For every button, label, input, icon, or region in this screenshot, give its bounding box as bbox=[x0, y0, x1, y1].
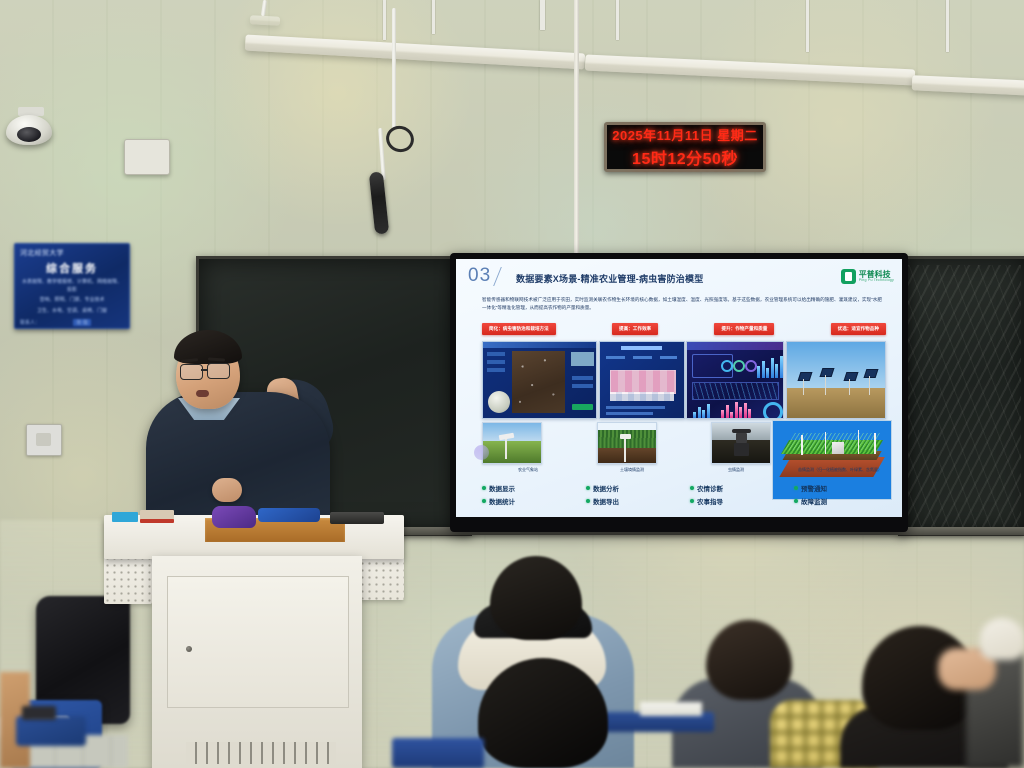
smart-display-screen[interactable]: 03 数据要素X场景-精准农业管理-病虫害防治模型 平普科技 Ping Pu T… bbox=[450, 253, 908, 532]
bullet-dot-icon bbox=[482, 486, 486, 490]
blackboard-right bbox=[898, 256, 1024, 536]
light-hanger-rod bbox=[946, 0, 949, 52]
purple-cloth-item bbox=[212, 506, 256, 528]
sensor-pole bbox=[874, 433, 876, 453]
presenter-glasses-lens bbox=[180, 364, 203, 380]
bullet-label: 农情诊断 bbox=[697, 483, 723, 493]
dashboard-field bbox=[487, 368, 505, 372]
blue-cloth-item bbox=[258, 508, 320, 522]
bullet-label: 数据统计 bbox=[489, 496, 515, 506]
photo-grass bbox=[483, 441, 541, 463]
feature-bullet-columns: 数据显示 数据统计 数据分析 数据导出 农情诊断 农事指导 预警通知 故障监测 bbox=[482, 479, 886, 506]
dashboard-titlebar bbox=[483, 342, 596, 348]
ceiling-light-fixture bbox=[250, 15, 280, 26]
dashboard-bar-chart bbox=[693, 404, 710, 418]
dome-security-camera bbox=[6, 115, 52, 145]
desk-device bbox=[330, 512, 384, 524]
dashboard-screenshot-row bbox=[482, 341, 886, 419]
mic-boom-arm bbox=[392, 8, 396, 130]
bullet-label: 数据分析 bbox=[593, 483, 619, 493]
bullet-item: 农情诊断 bbox=[690, 483, 782, 493]
dashboard-donut-chart bbox=[763, 402, 783, 419]
photo-pest-monitor bbox=[711, 422, 771, 464]
bullet-dot-icon bbox=[482, 499, 486, 503]
front-row-desk bbox=[16, 716, 86, 746]
dashboard-field bbox=[606, 406, 665, 409]
dashboard-analytics bbox=[686, 341, 784, 419]
bullet-item: 数据导出 bbox=[586, 496, 678, 506]
desk-book bbox=[112, 512, 138, 522]
dashboard-field bbox=[487, 352, 505, 356]
sign-contact-row: 联系人： 张 强 bbox=[20, 319, 124, 326]
sensor-pole bbox=[825, 375, 827, 395]
bullet-column: 预警通知 故障监测 bbox=[794, 479, 886, 506]
dashboard-table-rows bbox=[610, 392, 674, 401]
bullet-label: 预警通知 bbox=[801, 483, 827, 493]
bullet-item: 农事指导 bbox=[690, 496, 782, 506]
lectern-lock-icon[interactable] bbox=[186, 646, 192, 652]
light-hanger-rod bbox=[540, 0, 545, 30]
clock-date-line: 2025年11月11日 星期二 bbox=[612, 125, 758, 144]
dashboard-heading bbox=[621, 346, 661, 350]
logo-text: 平普科技 Ping Pu Technology bbox=[859, 271, 894, 283]
bullet-item: 故障监测 bbox=[794, 496, 886, 506]
phone-on-desk bbox=[22, 706, 56, 720]
student-desk bbox=[392, 738, 484, 768]
dashboard-soil-imagery bbox=[512, 351, 565, 413]
photo-caption-row: 农业气象站 土壤墒情监测 虫情监测 苗情监测（归一化植被指数、叶绿素、含氮量） bbox=[482, 467, 886, 472]
dashboard-line-chart bbox=[692, 382, 778, 400]
bullet-column: 农情诊断 农事指导 bbox=[690, 479, 782, 506]
photo-caption: 农业气象站 bbox=[482, 467, 574, 472]
bullet-dot-icon bbox=[586, 486, 590, 490]
photo-crop bbox=[598, 430, 656, 448]
pest-trap-body-icon bbox=[734, 443, 749, 456]
company-logo: 平普科技 Ping Pu Technology bbox=[841, 269, 894, 284]
slide-title-divider bbox=[493, 267, 515, 286]
dashboard-action-button bbox=[572, 404, 592, 410]
sensor-pole bbox=[803, 379, 805, 395]
audience-member-hat bbox=[980, 618, 1024, 660]
dashboard-titlebar bbox=[687, 342, 783, 350]
bullet-dot-icon bbox=[690, 486, 694, 490]
presenter-glasses-lens bbox=[207, 363, 230, 379]
dashboard-bar-chart bbox=[721, 402, 751, 418]
dashboard-heatmap-grid bbox=[610, 370, 676, 394]
benefit-pill: 优选：适宜作物品种 bbox=[831, 323, 886, 335]
bullet-label: 农事指导 bbox=[697, 496, 723, 506]
sign-contact-label: 联系人： bbox=[20, 319, 40, 326]
sensor-pole bbox=[869, 376, 871, 395]
desk-paper bbox=[640, 702, 702, 716]
sensor-pole bbox=[825, 432, 827, 454]
logo-mark-icon bbox=[841, 269, 856, 284]
photo-weather-station bbox=[482, 422, 542, 464]
benefit-pill: 简化：病虫害防治和栽培方法 bbox=[482, 323, 556, 335]
slide-number: 03 bbox=[468, 265, 491, 287]
presenter-glasses-bridge bbox=[201, 369, 208, 371]
dashboard-pest-detection bbox=[482, 341, 597, 419]
sign-body-line-2: 音响、照明、门禁、专业技术 bbox=[20, 297, 124, 305]
sign-heading: 综合服务 bbox=[20, 260, 124, 276]
dashboard-ring-chart bbox=[733, 360, 745, 372]
slide-paragraph: 智能传感器和物联网技术被广泛应用于农田，实时监测关联农作物生长环境的核心数据，如… bbox=[482, 296, 882, 313]
photo-caption: 虫情监测 bbox=[690, 467, 782, 472]
desk-book bbox=[140, 519, 174, 523]
bullet-item: 数据统计 bbox=[482, 496, 574, 506]
logo-name-en: Ping Pu Technology bbox=[859, 279, 894, 283]
bullet-item: 数据分析 bbox=[586, 483, 678, 493]
presenter-mouth bbox=[196, 390, 209, 397]
benefit-pill-row: 简化：病虫害防治和栽培方法 提高：工作效率 提升：作物产量和质量 优选：适宜作物… bbox=[482, 323, 886, 335]
wall-junction-box bbox=[124, 139, 170, 175]
field-control-box bbox=[832, 442, 844, 454]
sign-university-name: 河北经贸大学 bbox=[20, 248, 124, 258]
presenter-resting-hand bbox=[212, 478, 242, 502]
sensor-pole bbox=[624, 436, 626, 462]
dashboard-field bbox=[606, 412, 653, 415]
decorative-bubble bbox=[474, 445, 489, 460]
dashboard-field bbox=[606, 356, 624, 359]
bullet-dot-icon bbox=[794, 486, 798, 490]
dashboard-bar-chart bbox=[757, 356, 783, 378]
dashboard-gauge-icon bbox=[488, 391, 510, 413]
bullet-dot-icon bbox=[586, 499, 590, 503]
benefit-pill: 提高：工作效率 bbox=[612, 323, 658, 335]
dashboard-field bbox=[660, 356, 677, 359]
bullet-item: 预警通知 bbox=[794, 483, 886, 493]
photo-caption: 苗情监测（归一化植被指数、叶绿素、含氮量） bbox=[794, 467, 886, 472]
classroom-photo-scene: 河北经贸大学 综合服务 水表故障、教学楼报修、计算机、网络故障、投影 音响、照明… bbox=[0, 0, 1024, 768]
slide-title: 数据要素X场景-精准农业管理-病虫害防治模型 bbox=[516, 272, 703, 285]
dashboard-thumb bbox=[571, 352, 594, 366]
dashboard-field bbox=[572, 384, 592, 388]
soil-sensor-icon bbox=[620, 434, 631, 439]
bullet-item: 数据显示 bbox=[482, 483, 574, 493]
bullet-column: 数据分析 数据导出 bbox=[586, 479, 678, 506]
bullet-label: 数据显示 bbox=[489, 483, 515, 493]
photo-solar-sensor-field bbox=[786, 341, 886, 419]
sign-contact-value: 张 强 bbox=[73, 319, 90, 326]
bullet-label: 故障监测 bbox=[801, 496, 827, 506]
dashboard-field bbox=[572, 376, 592, 380]
light-hanger-rod bbox=[383, 0, 386, 40]
pest-trap-lamp-icon bbox=[736, 433, 747, 443]
light-hanger-rod bbox=[806, 0, 809, 52]
lectern-cabinet-door[interactable] bbox=[167, 576, 349, 708]
sensor-pole bbox=[858, 430, 860, 453]
sensor-pole bbox=[849, 379, 851, 395]
led-date-time-display: 2025年11月11日 星期二 15时12分50秒 bbox=[604, 122, 766, 172]
bullet-label: 数据导出 bbox=[593, 496, 619, 506]
bullet-column: 数据显示 数据统计 bbox=[482, 479, 574, 506]
clock-time-line: 15时12分50秒 bbox=[632, 145, 738, 169]
presentation-slide: 03 数据要素X场景-精准农业管理-病虫害防治模型 平普科技 Ping Pu T… bbox=[456, 259, 902, 526]
light-hanger-rod bbox=[432, 0, 435, 34]
dashboard-soil-grid bbox=[599, 341, 685, 419]
screen-lower-bezel bbox=[456, 517, 902, 526]
wall-outlet-plate[interactable] bbox=[26, 424, 62, 456]
bullet-dot-icon bbox=[690, 499, 694, 503]
sensor-pole bbox=[505, 437, 507, 459]
photo-caption: 土壤墒情监测 bbox=[586, 467, 678, 472]
dashboard-ring-chart bbox=[745, 360, 757, 372]
sign-body-line-1: 水表故障、教学楼报修、计算机、网络故障、投影 bbox=[20, 279, 124, 294]
service-notice-sign: 河北经贸大学 综合服务 水表故障、教学楼报修、计算机、网络故障、投影 音响、照明… bbox=[14, 243, 130, 329]
bullet-dot-icon bbox=[794, 499, 798, 503]
sensor-pole bbox=[801, 435, 803, 455]
benefit-pill: 提升：作物产量和质量 bbox=[714, 323, 774, 335]
lectern-vent-slots bbox=[186, 742, 336, 764]
dashboard-field bbox=[633, 356, 651, 359]
dashboard-field bbox=[487, 360, 505, 364]
sign-body-line-3: 卫生、水电、空调、桌椅、门窗 bbox=[20, 308, 124, 316]
camera-lens-icon bbox=[17, 127, 41, 142]
photo-soil-moisture bbox=[597, 422, 657, 464]
light-hanger-rod bbox=[616, 0, 619, 40]
